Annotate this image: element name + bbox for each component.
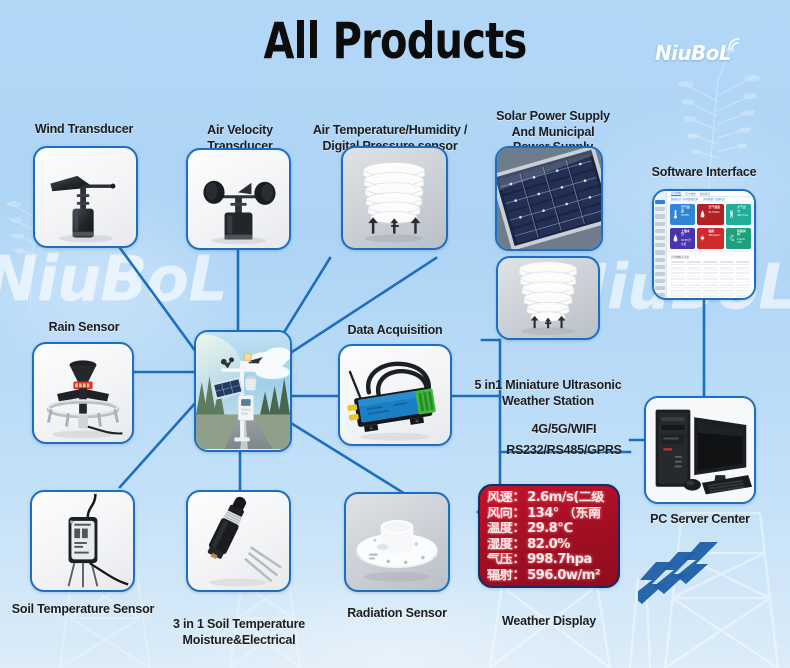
label-soil-3in1-sensor: 3 in 1 Soil Temperature Moisture&Electri… — [160, 602, 318, 648]
dashboard-tiles: 空气温度29.8℃ 空气湿度82.0%RH 大气压力998.7hpa 土壤水分3… — [667, 201, 754, 252]
label-soil-temperature-sensor: Soil Temperature Sensor — [8, 602, 158, 617]
label-text: Rain Sensor — [49, 320, 120, 334]
sidebar-item[interactable] — [655, 222, 665, 226]
table-caption: 实时数据记录表 — [671, 255, 750, 259]
sidebar-item[interactable] — [655, 229, 665, 233]
card-soil-temperature-sensor[interactable] — [30, 490, 135, 592]
pyranometer-icon — [346, 494, 448, 590]
wind-icon — [729, 233, 734, 243]
tile-name: 风速风向 — [737, 230, 748, 237]
weather-station-photo-icon — [196, 332, 290, 449]
tab-history[interactable]: 历史数据 — [685, 192, 695, 196]
software-dashboard[interactable]: 实时数据 历史数据 数据报表 数据监控 / 实时数据监测 实时数据 / 设备状态… — [654, 191, 754, 298]
brand-logo-text: NiuBoL — [655, 41, 731, 65]
tile-value: 36.5%含水量 — [681, 238, 692, 246]
led-row: 风速： 2.6m/s(二级 — [487, 491, 616, 504]
label-text: Wind Transducer — [35, 122, 133, 136]
sidebar-item[interactable] — [655, 279, 665, 283]
label-text: Data Acquisition — [348, 323, 443, 337]
led-row: 辐射： 596.0w/m² — [487, 569, 616, 582]
card-air-velocity-transducer[interactable] — [186, 148, 291, 250]
card-central-station[interactable] — [194, 330, 292, 452]
tile-value: 82.0%RH — [708, 211, 720, 214]
table-row — [671, 294, 750, 300]
label-wind-transducer: Wind Transducer — [10, 122, 158, 137]
card-solar-power-supply[interactable] — [495, 146, 603, 251]
led-key: 温度： — [487, 522, 525, 535]
signal-arc-icon — [725, 36, 741, 52]
led-value: 2.6m/s(二级 — [527, 491, 604, 504]
tile-name: 空气湿度 — [708, 206, 720, 210]
led-row: 风向： 134° （东南 — [487, 507, 616, 520]
label-pc-server-center: PC Server Center — [644, 512, 756, 527]
sidebar-item[interactable] — [655, 286, 665, 290]
tile-value: 29.8℃ — [681, 214, 692, 217]
tile-name: 土壤水分 — [681, 230, 692, 237]
tile-value: 998.7hpa — [737, 214, 748, 217]
led-value: 29.8℃ — [527, 522, 573, 535]
led-value: 596.0w/m² — [527, 569, 600, 582]
tile-name: 空气温度 — [681, 206, 692, 213]
label-text: Radiation Sensor — [347, 606, 447, 620]
sidebar-item[interactable] — [655, 200, 665, 204]
humidity-drop-icon — [700, 209, 705, 219]
label-software-interface: Software Interface — [638, 165, 770, 180]
sidebar-item[interactable] — [655, 250, 665, 254]
tile-soil-moisture[interactable]: 土壤水分36.5%含水量 — [670, 228, 695, 249]
radiation-shield-icon — [343, 148, 446, 248]
led-row: 气压： 998.7hpa — [487, 553, 616, 566]
tile-radiation[interactable]: 辐射596.0w/m² — [697, 228, 723, 249]
watermark-left: NiuBoL — [0, 242, 227, 315]
led-key: 风速： — [487, 491, 525, 504]
thermometer-icon — [673, 209, 678, 219]
soil-probe-icon — [32, 492, 133, 590]
led-rows: 风速： 2.6m/s(二级 风向： 134° （东南 温度： 29.8℃ 湿度：… — [487, 491, 616, 582]
dashboard-data-table: 实时数据记录表 — [667, 252, 754, 301]
soil-3in1-probe-icon — [188, 492, 289, 590]
poster-canvas: NiuBoL NiuBoL — [0, 0, 790, 668]
pressure-gauge-icon — [729, 209, 734, 219]
tile-air-pressure[interactable]: 大气压力998.7hpa — [726, 204, 751, 225]
tile-air-humidity[interactable]: 空气湿度82.0%RH — [697, 204, 723, 225]
led-key: 湿度： — [487, 538, 525, 551]
sidebar-item[interactable] — [655, 258, 665, 262]
led-key: 风向： — [487, 507, 525, 520]
led-value: 134° （东南 — [527, 507, 600, 520]
led-value: 82.0% — [527, 538, 570, 551]
label-text: Soil Temperature Sensor — [12, 602, 154, 616]
led-key: 气压： — [487, 553, 525, 566]
tab-report[interactable]: 数据报表 — [700, 192, 710, 196]
sidebar-item[interactable] — [655, 265, 665, 269]
card-ultrasonic-weather-station[interactable] — [496, 256, 600, 340]
label-radiation-sensor: Radiation Sensor — [340, 606, 454, 621]
tile-name: 大气压力 — [737, 206, 748, 213]
label-weather-display: Weather Display — [490, 614, 608, 629]
led-key: 辐射： — [487, 569, 525, 582]
label-data-acquisition: Data Acquisition — [334, 323, 456, 338]
label-text: PC Server Center — [650, 512, 750, 526]
card-weather-display[interactable]: 风速： 2.6m/s(二级 风向： 134° （东南 温度： 29.8℃ 湿度：… — [478, 484, 620, 588]
card-software-interface[interactable]: 实时数据 历史数据 数据报表 数据监控 / 实时数据监测 实时数据 / 设备状态… — [652, 189, 756, 300]
sidebar-item[interactable] — [655, 214, 665, 218]
tile-wind[interactable]: 风速风向2.6m/s 134° — [726, 228, 751, 249]
brand-logo: NiuBoL — [655, 41, 731, 65]
card-air-temp-humidity-pressure[interactable] — [341, 146, 448, 250]
tile-value: 596.0w/m² — [708, 234, 720, 237]
data-logger-icon — [340, 346, 450, 444]
tab-realtime[interactable]: 实时数据 — [671, 191, 681, 196]
tile-air-temperature[interactable]: 空气温度29.8℃ — [670, 204, 695, 225]
led-value: 998.7hpa — [527, 553, 592, 566]
sidebar-item[interactable] — [655, 272, 665, 276]
card-radiation-sensor[interactable] — [344, 492, 450, 592]
card-pc-server-center[interactable] — [644, 396, 756, 504]
tipping-bucket-icon — [34, 344, 132, 442]
page-title: All Products — [79, 12, 711, 70]
tile-value: 2.6m/s 134° — [737, 238, 748, 244]
label-text: Weather Display — [502, 614, 596, 628]
sidebar-item[interactable] — [655, 236, 665, 240]
label-rain-sensor: Rain Sensor — [18, 320, 150, 335]
led-row: 温度： 29.8℃ — [487, 522, 616, 535]
label-text: Software Interface — [652, 165, 757, 179]
label-text: 4G/5G/WIFI — [532, 422, 597, 436]
label-connectivity-wired: RS232/RS485/GPRS — [484, 443, 644, 458]
sidebar-item[interactable] — [655, 243, 665, 247]
sidebar-item[interactable] — [655, 207, 665, 211]
card-data-acquisition[interactable] — [338, 344, 452, 446]
card-wind-transducer[interactable] — [33, 146, 138, 248]
card-soil-3in1-sensor[interactable] — [186, 490, 291, 592]
label-text: RS232/RS485/GPRS — [506, 443, 622, 457]
cup-anemometer-icon — [188, 150, 289, 248]
label-ultrasonic-weather-station: 5 in1 Miniature Ultrasonic Weather Stati… — [468, 363, 628, 409]
tile-name: 辐射 — [708, 230, 720, 234]
sun-icon — [700, 233, 705, 243]
led-row: 湿度： 82.0% — [487, 538, 616, 551]
water-drop-icon — [673, 233, 678, 243]
dashboard-sidebar[interactable] — [654, 191, 667, 298]
solar-panel-icon — [497, 148, 601, 249]
desktop-computer-icon — [646, 398, 754, 502]
label-text: 5 in1 Miniature Ultrasonic Weather Stati… — [475, 378, 622, 407]
triple-chevron-left-down-icon — [638, 538, 728, 604]
card-rain-sensor[interactable] — [32, 342, 134, 444]
sidebar-item[interactable] — [655, 293, 665, 297]
wind-vane-icon — [35, 148, 136, 246]
label-connectivity-wireless: 4G/5G/WIFI — [498, 422, 630, 437]
ultrasonic-station-icon — [498, 258, 598, 339]
label-text: 3 in 1 Soil Temperature Moisture&Electri… — [173, 617, 305, 646]
